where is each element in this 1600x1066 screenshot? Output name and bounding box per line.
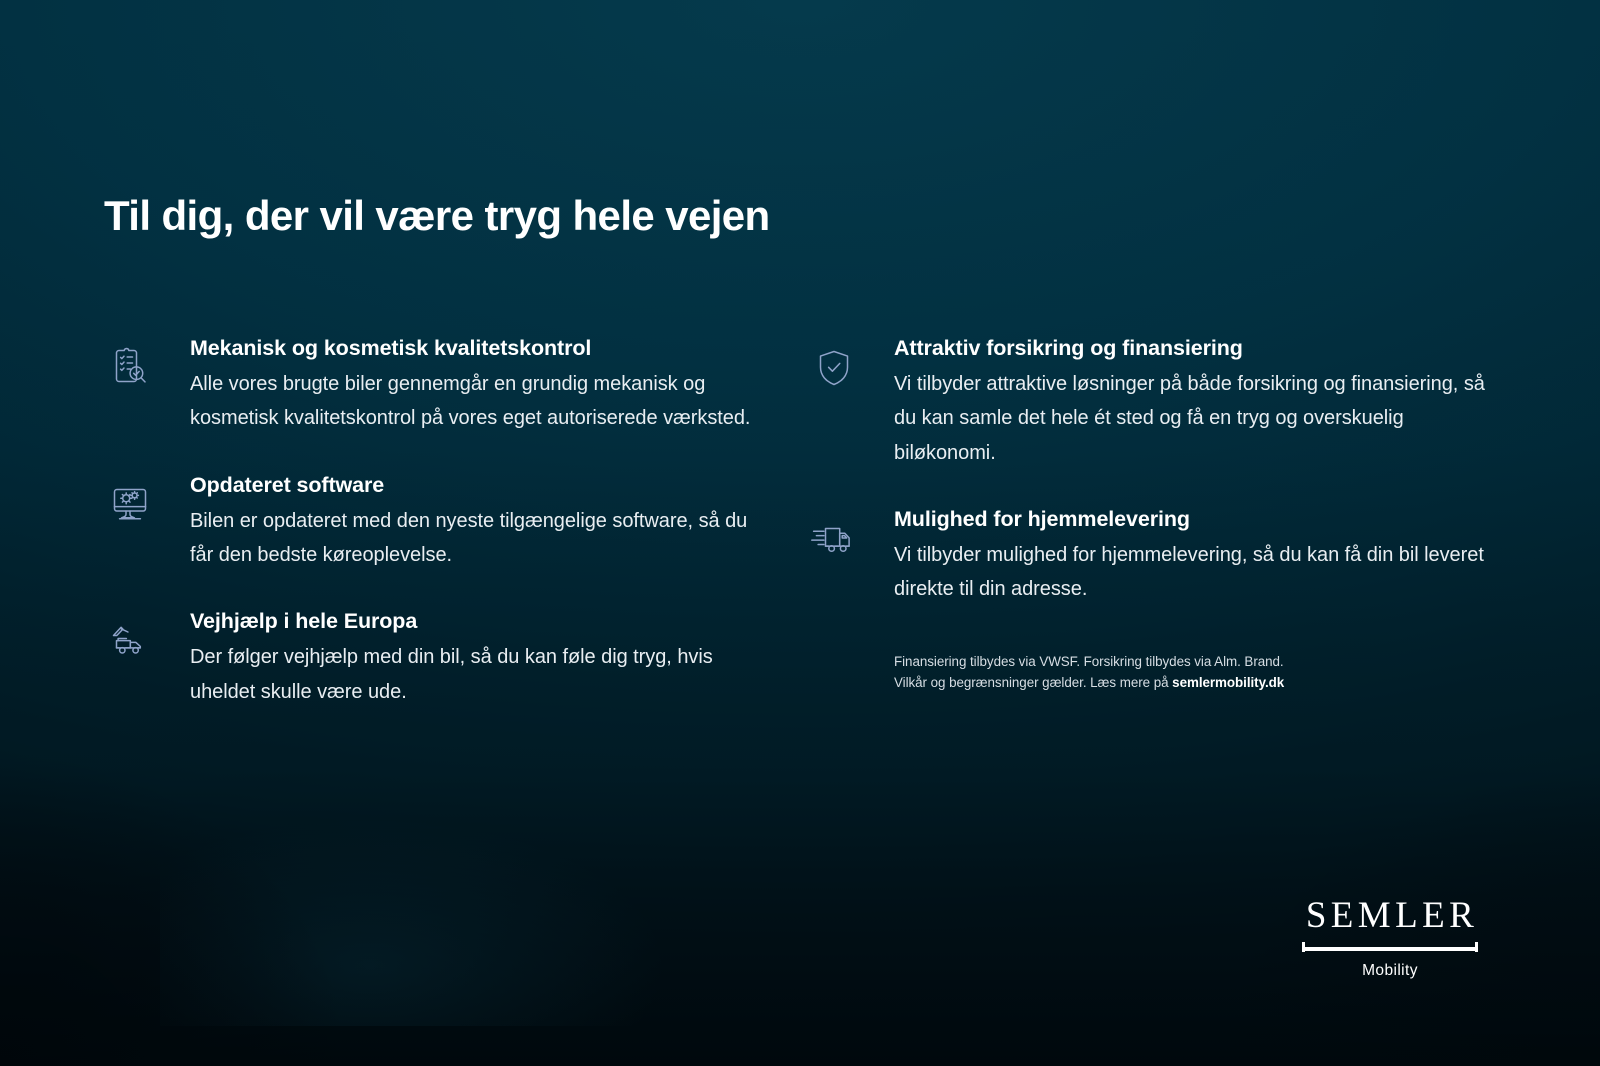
feature-updated-software: Opdateret software Bilen er opdateret me… bbox=[104, 472, 764, 573]
monitor-gears-icon bbox=[104, 480, 156, 532]
feature-text: Mekanisk og kosmetisk kvalitetskontrol A… bbox=[190, 335, 764, 436]
feature-description: Vi tilbyder mulighed for hjemmelevering,… bbox=[894, 538, 1508, 607]
feature-insurance-financing: Attraktiv forsikring og finansiering Vi … bbox=[808, 335, 1508, 470]
background-corner-left bbox=[0, 646, 520, 1066]
feature-description: Alle vores brugte biler gennemgår en gru… bbox=[190, 367, 764, 436]
feature-description: Der følger vejhjælp med din bil, så du k… bbox=[190, 640, 764, 709]
feature-title: Vejhjælp i hele Europa bbox=[190, 608, 764, 635]
clipboard-magnifier-icon bbox=[104, 343, 156, 395]
semler-mobility-logo: SEMLER Mobility bbox=[1292, 897, 1488, 980]
logo-wordmark: SEMLER bbox=[1292, 897, 1488, 934]
feature-home-delivery: Mulighed for hjemmelevering Vi tilbyder … bbox=[808, 506, 1508, 607]
disclaimer-line-1: Finansiering tilbydes via VWSF. Forsikri… bbox=[894, 654, 1284, 669]
features-column-left: Mekanisk og kosmetisk kvalitetskontrol A… bbox=[104, 335, 764, 709]
feature-text: Mulighed for hjemmelevering Vi tilbyder … bbox=[894, 506, 1508, 607]
background-corner-right bbox=[1040, 686, 1600, 1066]
logo-subtitle: Mobility bbox=[1292, 962, 1488, 980]
tow-truck-icon bbox=[104, 616, 156, 668]
feature-quality-control: Mekanisk og kosmetisk kvalitetskontrol A… bbox=[104, 335, 764, 436]
feature-description: Bilen er opdateret med den nyeste tilgæn… bbox=[190, 504, 764, 573]
disclaimer-text: Finansiering tilbydes via VWSF. Forsikri… bbox=[894, 651, 1364, 694]
feature-text: Opdateret software Bilen er opdateret me… bbox=[190, 472, 764, 573]
promo-panel: Til dig, der vil være tryg hele vejen bbox=[0, 0, 1600, 1066]
shield-check-icon bbox=[808, 345, 860, 397]
feature-title: Attraktiv forsikring og finansiering bbox=[894, 335, 1508, 362]
features-column-right: Attraktiv forsikring og finansiering Vi … bbox=[808, 335, 1508, 694]
logo-divider-rule bbox=[1302, 947, 1478, 951]
feature-title: Mekanisk og kosmetisk kvalitetskontrol bbox=[190, 335, 764, 362]
feature-roadside-assistance: Vejhjælp i hele Europa Der følger vejhjæ… bbox=[104, 608, 764, 709]
page-title: Til dig, der vil være tryg hele vejen bbox=[104, 193, 770, 239]
semlermobility-link[interactable]: semlermobility.dk bbox=[1172, 675, 1284, 690]
feature-text: Attraktiv forsikring og finansiering Vi … bbox=[894, 335, 1508, 470]
feature-description: Vi tilbyder attraktive løsninger på både… bbox=[894, 367, 1508, 470]
delivery-truck-icon bbox=[808, 514, 860, 566]
feature-title: Opdateret software bbox=[190, 472, 764, 499]
disclaimer-line-2-prefix: Vilkår og begrænsninger gælder. Læs mere… bbox=[894, 675, 1172, 690]
feature-title: Mulighed for hjemmelevering bbox=[894, 506, 1508, 533]
feature-text: Vejhjælp i hele Europa Der følger vejhjæ… bbox=[190, 608, 764, 709]
